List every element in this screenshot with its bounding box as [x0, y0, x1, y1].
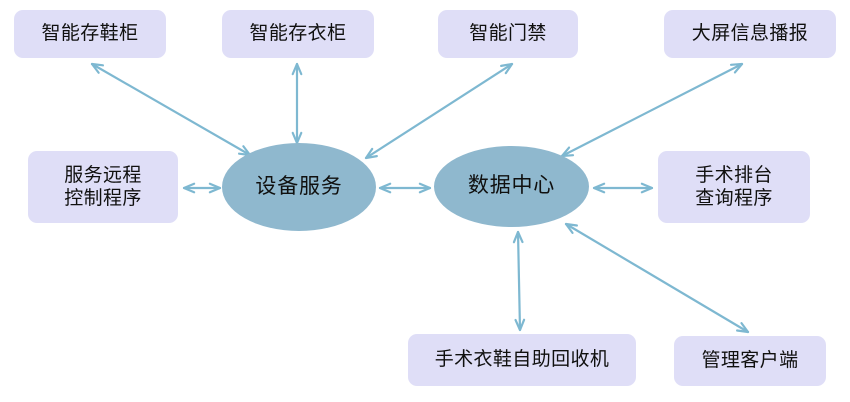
node-equipment-service[interactable]: 设备服务 — [222, 143, 376, 231]
edge-data-center-to-recycler — [514, 232, 524, 330]
node-management-client[interactable]: 管理客户端 — [674, 336, 826, 386]
diagram-canvas: 设备服务数据中心智能存鞋柜智能存衣柜智能门禁大屏信息播报服务远程控制程序手术排台… — [0, 0, 850, 402]
node-label-equipment-service: 设备服务 — [255, 175, 342, 200]
node-smart-clothes-cabinet[interactable]: 智能存衣柜 — [222, 10, 374, 58]
node-surgery-schedule-query[interactable]: 手术排台查询程序 — [658, 151, 810, 223]
edge-equipment-to-remote-control — [184, 184, 220, 193]
node-label-smart-access-control: 智能门禁 — [469, 23, 547, 45]
edge-data-center-to-schedule-query — [594, 184, 652, 193]
node-large-screen-broadcast[interactable]: 大屏信息播报 — [664, 10, 836, 58]
node-smart-shoe-cabinet[interactable]: 智能存鞋柜 — [14, 10, 166, 58]
edge-equipment-to-shoe-cabinet — [92, 64, 250, 155]
node-label-large-screen-broadcast: 大屏信息播报 — [692, 23, 808, 45]
node-smart-access-control[interactable]: 智能门禁 — [438, 10, 578, 58]
node-label-remote-control-program: 服务远程控制程序 — [64, 164, 142, 210]
edge-data-center-to-broadcast — [562, 64, 742, 156]
node-label-gown-shoe-recycler: 手术衣鞋自助回收机 — [435, 349, 610, 371]
node-gown-shoe-recycler[interactable]: 手术衣鞋自助回收机 — [408, 334, 636, 386]
node-remote-control-program[interactable]: 服务远程控制程序 — [28, 151, 178, 223]
edge-equipment-to-access-control — [366, 64, 512, 158]
node-data-center[interactable]: 数据中心 — [434, 146, 589, 227]
node-label-surgery-schedule-query: 手术排台查询程序 — [695, 164, 773, 210]
node-label-data-center: 数据中心 — [468, 174, 555, 199]
edge-equipment-to-data-center — [380, 184, 430, 193]
node-label-management-client: 管理客户端 — [701, 350, 798, 372]
node-label-smart-clothes-cabinet: 智能存衣柜 — [249, 23, 346, 45]
node-label-smart-shoe-cabinet: 智能存鞋柜 — [41, 23, 138, 45]
edge-data-center-to-management-client — [566, 224, 748, 332]
edge-equipment-to-clothes-cabinet — [293, 64, 302, 143]
